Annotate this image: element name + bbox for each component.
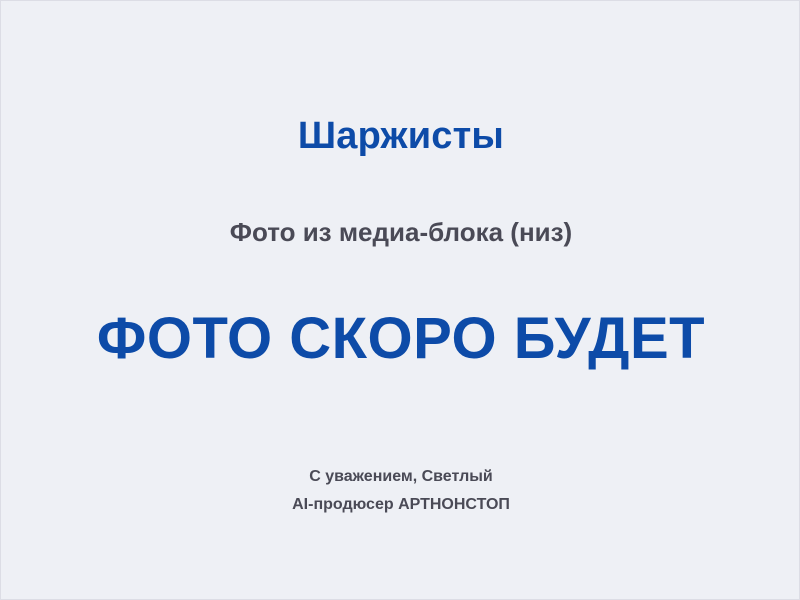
page-title: Шаржисты <box>1 114 800 160</box>
placeholder-headline: ФОТО СКОРО БУДЕТ <box>1 306 800 373</box>
signature-line-author: С уважением, Светлый <box>1 463 800 491</box>
placeholder-subtitle: Фото из медиа-блока (низ) <box>1 217 800 248</box>
signature-line-role: AI-продюсер АРТНОНСТОП <box>1 491 800 519</box>
photo-placeholder-card: Шаржисты Фото из медиа-блока (низ) ФОТО … <box>0 0 800 600</box>
signature-block: С уважением, Светлый AI-продюсер АРТНОНС… <box>1 463 800 519</box>
